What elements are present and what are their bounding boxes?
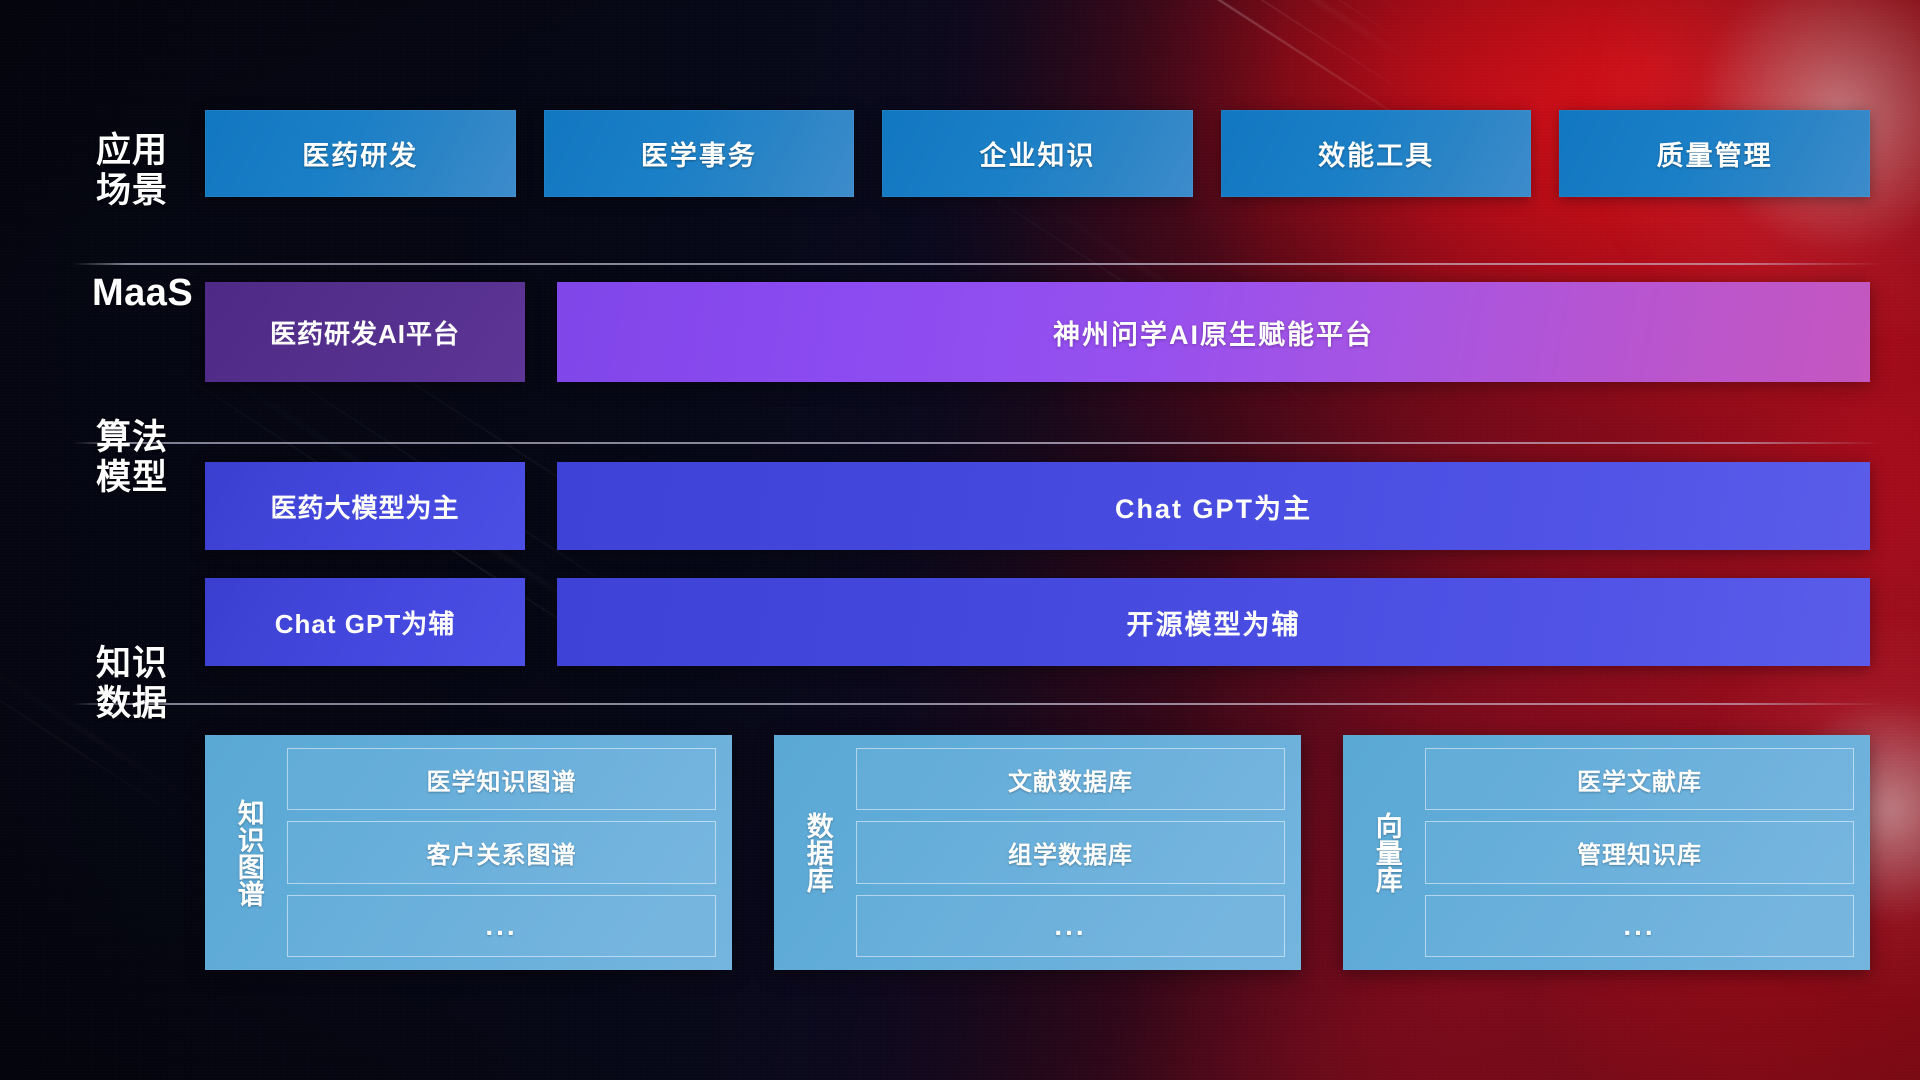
maas-row: 医药研发AI平台 神州问学AI原生赋能平台 xyxy=(205,282,1870,382)
row-label-maas: MaaS xyxy=(92,272,193,315)
algorithm-model-box-left[interactable]: 医药大模型为主 xyxy=(205,462,525,550)
maas-platform-box-shenzhou[interactable]: 神州问学AI原生赋能平台 xyxy=(557,282,1870,382)
app-scenario-box[interactable]: 效能工具 xyxy=(1221,110,1532,197)
algorithm-model-box-left[interactable]: Chat GPT为辅 xyxy=(205,578,525,666)
knowledge-item[interactable]: 管理知识库 xyxy=(1425,821,1854,883)
knowledge-card-title: 知识图谱 xyxy=(219,748,277,957)
maas-platform-box-pharma[interactable]: 医药研发AI平台 xyxy=(205,282,525,382)
algorithm-model-box-right[interactable]: Chat GPT为主 xyxy=(557,462,1870,550)
app-scenario-label: 质量管理 xyxy=(1657,134,1773,173)
app-scenario-box[interactable]: 质量管理 xyxy=(1559,110,1870,197)
knowledge-card-database[interactable]: 数据库 文献数据库 组学数据库 ... xyxy=(774,735,1301,970)
knowledge-card-knowledge-graph[interactable]: 知识图谱 医学知识图谱 客户关系图谱 ... xyxy=(205,735,732,970)
knowledge-item[interactable]: 医学文献库 xyxy=(1425,748,1854,810)
knowledge-item-more[interactable]: ... xyxy=(856,895,1285,957)
app-scenario-box[interactable]: 企业知识 xyxy=(882,110,1193,197)
knowledge-item[interactable]: 组学数据库 xyxy=(856,821,1285,883)
knowledge-card-title: 数据库 xyxy=(788,748,846,957)
app-scenario-label: 医学事务 xyxy=(641,134,757,173)
maas-platform-label: 神州问学AI原生赋能平台 xyxy=(1053,313,1374,352)
knowledge-item[interactable]: 医学知识图谱 xyxy=(287,748,716,810)
knowledge-data-row: 知识图谱 医学知识图谱 客户关系图谱 ... 数据库 文献数据库 组学数据库 .… xyxy=(205,735,1870,970)
knowledge-item[interactable]: 客户关系图谱 xyxy=(287,821,716,883)
row-label-application: 应用 场景 xyxy=(96,131,168,211)
app-scenario-label: 医药研发 xyxy=(302,134,418,173)
app-scenario-label: 企业知识 xyxy=(979,134,1095,173)
app-scenario-box[interactable]: 医药研发 xyxy=(205,110,516,197)
row-label-knowledge: 知识 数据 xyxy=(96,644,168,724)
algorithm-model-label: 开源模型为辅 xyxy=(1127,603,1301,642)
algorithm-model-row-primary: 医药大模型为主 Chat GPT为主 xyxy=(205,462,1870,550)
algorithm-model-row-secondary: Chat GPT为辅 开源模型为辅 xyxy=(205,578,1870,666)
knowledge-card-items: 文献数据库 组学数据库 ... xyxy=(846,748,1285,957)
divider-application-maas xyxy=(73,263,1883,265)
application-scenarios-row: 医药研发 医学事务 企业知识 效能工具 质量管理 xyxy=(205,110,1870,197)
algorithm-model-label: Chat GPT为主 xyxy=(1115,487,1312,526)
knowledge-card-vector-store[interactable]: 向量库 医学文献库 管理知识库 ... xyxy=(1343,735,1870,970)
diagram-stage: 向量库 应用 场景 MaaS 算法 模型 知识 数据 医药研发 医学事务 企业知… xyxy=(0,0,1920,1080)
algorithm-model-label: 医药大模型为主 xyxy=(270,488,459,525)
divider-maas-algorithm xyxy=(73,442,1883,444)
app-scenario-box[interactable]: 医学事务 xyxy=(544,110,855,197)
knowledge-item[interactable]: 文献数据库 xyxy=(856,748,1285,810)
maas-platform-label: 医药研发AI平台 xyxy=(270,314,460,351)
app-scenario-label: 效能工具 xyxy=(1318,134,1434,173)
knowledge-item-more[interactable]: ... xyxy=(287,895,716,957)
knowledge-card-items: 医学知识图谱 客户关系图谱 ... xyxy=(277,748,716,957)
knowledge-item-more[interactable]: ... xyxy=(1425,895,1854,957)
algorithm-model-box-right[interactable]: 开源模型为辅 xyxy=(557,578,1870,666)
algorithm-model-label: Chat GPT为辅 xyxy=(275,604,455,641)
knowledge-card-title: 向量库 xyxy=(1357,748,1415,957)
row-label-algorithm: 算法 模型 xyxy=(96,418,168,498)
knowledge-card-items: 医学文献库 管理知识库 ... xyxy=(1415,748,1854,957)
divider-algorithm-knowledge xyxy=(73,703,1883,705)
